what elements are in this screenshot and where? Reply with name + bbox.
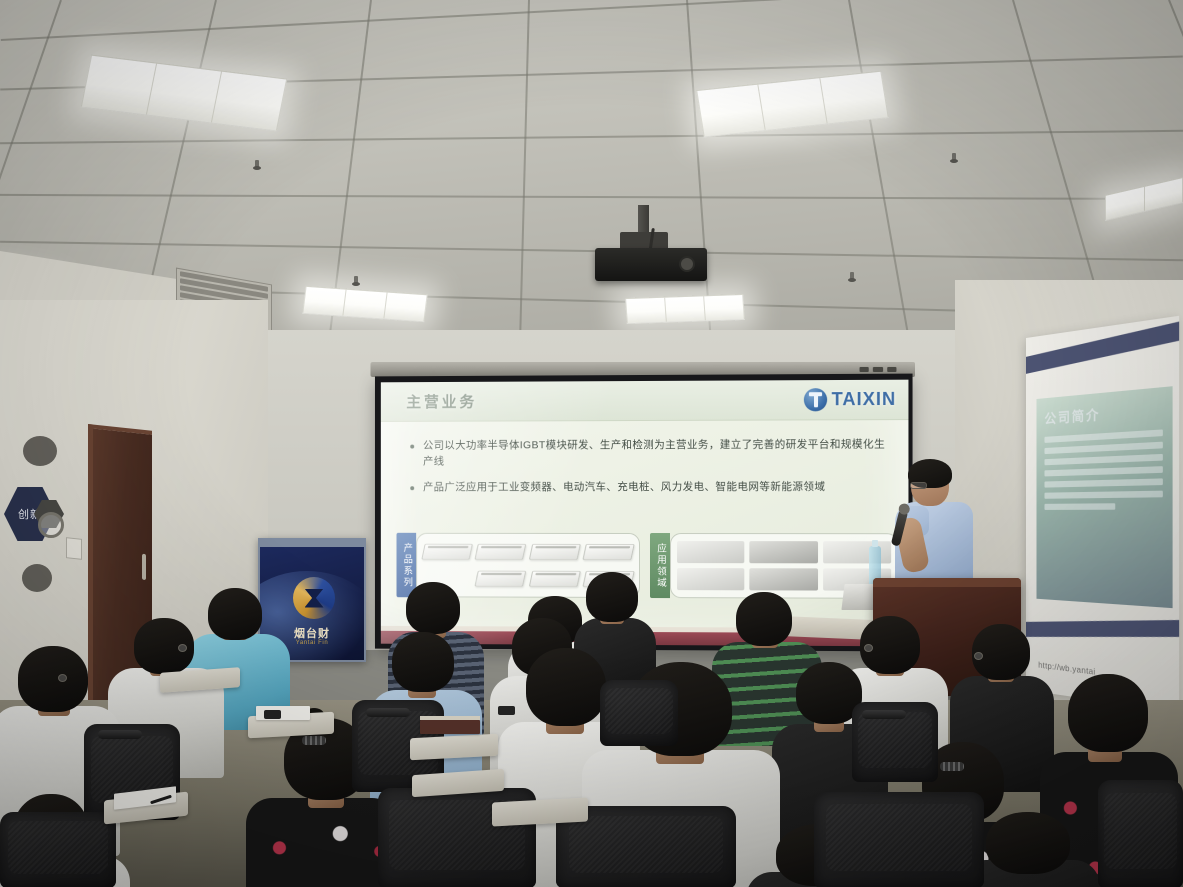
taixin-emblem-icon [804,388,827,411]
poster-text-lines [1044,429,1162,510]
sprinkler-head [352,276,360,287]
chair-armrest [98,730,142,739]
mobile-phone[interactable] [264,710,281,719]
light-switch[interactable] [66,537,82,560]
slide-body: 公司以大功率半导体IGBT模块研发、生产和检测为主营业务，建立了完善的研发平台和… [381,420,909,495]
slide-bullet: 公司以大功率半导体IGBT模块研发、生产和检测为主营业务，建立了完善的研发平台和… [410,436,888,470]
office-chair[interactable] [0,812,116,887]
company-logo: TAIXIN [804,388,896,412]
chair-armrest [862,710,906,719]
conference-room-photo: 创新 主营业务 TAIXIN [0,0,1183,887]
company-logo-text: TAIXIN [832,389,897,410]
sprinkler-head [253,160,261,171]
bullet-dot-icon [410,486,414,490]
ceiling-projector [595,248,707,281]
office-chair[interactable] [600,680,678,746]
sprinkler-head [950,153,958,164]
product-module-thumb [475,544,527,560]
slide-bullet-text: 产品广泛应用于工业变频器、电动汽车、充电桩、风力发电、智能电网等新能源领域 [423,478,825,495]
hair-clip [302,736,326,745]
slide-title: 主营业务 [406,391,477,412]
mobile-phone[interactable] [498,706,515,715]
eyeglasses-icon [864,644,873,652]
bullet-dot-icon [410,445,414,449]
projector-lens-icon [679,256,695,272]
ceiling-light-fixture [625,294,745,324]
presenter-glasses-icon [910,482,927,489]
eyeglasses-icon [974,652,983,660]
screen-control-indicators [860,367,897,372]
slide-bullet: 产品广泛应用于工业变频器、电动汽车、充电桩、风力发电、智能电网等新能源领域 [410,478,888,495]
product-module-thumb [582,544,634,560]
slide-bullet-text: 公司以大功率半导体IGBT模块研发、生产和检测为主营业务，建立了完善的研发平台和… [423,436,888,470]
chair-tablet-arm [410,734,498,761]
eyeglasses-icon [58,674,67,682]
hair-clip [940,762,964,771]
slide-header: 主营业务 TAIXIN [381,380,909,422]
office-chair[interactable] [814,792,984,887]
audience-seating-area [0,560,1183,887]
poster-title: 公司简介 [1044,398,1162,427]
sprinkler-head [848,272,856,283]
book-stack [420,720,480,734]
wall-decor-ring [38,512,64,538]
wall-decor-circle [23,436,57,466]
office-chair[interactable] [1098,780,1183,887]
chair-armrest [366,708,410,717]
eyeglasses-icon [178,644,187,652]
chair-tablet-arm [492,797,588,826]
product-module-thumb [421,544,473,560]
product-module-thumb [528,544,580,560]
